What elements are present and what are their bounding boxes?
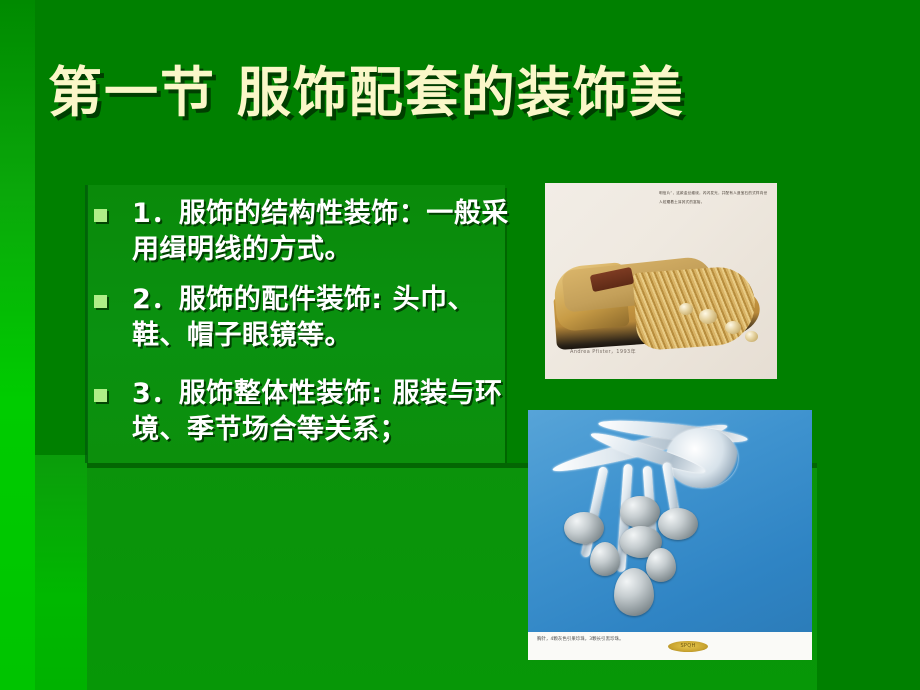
pearl-diamond-brooch-photo: 胸针，4颗灰色引果珍珠，3颗长引黑珍珠。 SPQH [528,410,812,660]
list-item-label: 2．服饰的配件装饰: 头巾、鞋、帽子眼镜等。 [132,284,475,351]
sandal-illustration [549,213,771,363]
square-bullet-icon [94,389,107,402]
sandal-gem-cluster [745,331,758,342]
slide-title: 第一节 服饰配套的装饰美 [48,62,808,124]
background-accent-band-left [0,0,35,690]
background-accent-band-secondary [35,455,87,690]
list-item: 1．服饰的结构性装饰：一般采用缉明线的方式。 [92,196,512,268]
brooch-publisher-logo-text: SPQH [668,641,708,652]
gold-sandal-photo: 明信片”，这款金丝缠绕，闪闪发光，并配有人造宝石的式样向世人炫耀着土耳其式的富裕… [545,183,777,379]
brooch-pearl-drop [646,548,676,582]
brooch-pearl [658,508,698,540]
list-item-label: 1．服饰的结构性装饰：一般采用缉明线的方式。 [132,198,509,265]
sandal-photo-credit: Andrea Pfister，1993年 [570,348,636,355]
bullet-list: 1．服饰的结构性装饰：一般采用缉明线的方式。 2．服饰的配件装饰: 头巾、鞋、帽… [92,196,512,461]
sandal-gem-cluster [725,321,741,334]
sandal-gem-cluster [699,309,717,324]
sandal-vamp-straps [632,265,757,351]
brooch-publisher-logo: SPQH [668,641,708,652]
brooch-illustration [528,410,812,660]
brooch-pearl [620,496,660,528]
list-item: 3．服饰整体性装饰: 服装与环境、季节场合等关系； [92,376,512,448]
sandal-gem-cluster [679,303,693,315]
brooch-caption-strip: 胸针，4颗灰色引果珍珠，3颗长引黑珍珠。 SPQH [528,632,812,660]
content-panel-upper-edge [85,185,88,463]
brooch-pearl-drop [590,542,620,576]
brooch-caption-text: 胸针，4颗灰色引果珍珠，3颗长引黑珍珠。 [537,636,667,644]
square-bullet-icon [94,295,107,308]
presentation-slide: 第一节 服饰配套的装饰美 1．服饰的结构性装饰：一般采用缉明线的方式。 2．服饰… [0,0,920,690]
sandal-photo-caption: 明信片”，这款金丝缠绕，闪闪发光，并配有人造宝石的式样向世人炫耀着土耳其式的富裕… [659,189,771,208]
list-item: 2．服饰的配件装饰: 头巾、鞋、帽子眼镜等。 [92,282,512,354]
list-item-label: 3．服饰整体性装饰: 服装与环境、季节场合等关系； [132,378,502,445]
brooch-pearl [564,512,604,544]
square-bullet-icon [94,209,107,222]
brooch-pearl-drop [614,568,654,616]
